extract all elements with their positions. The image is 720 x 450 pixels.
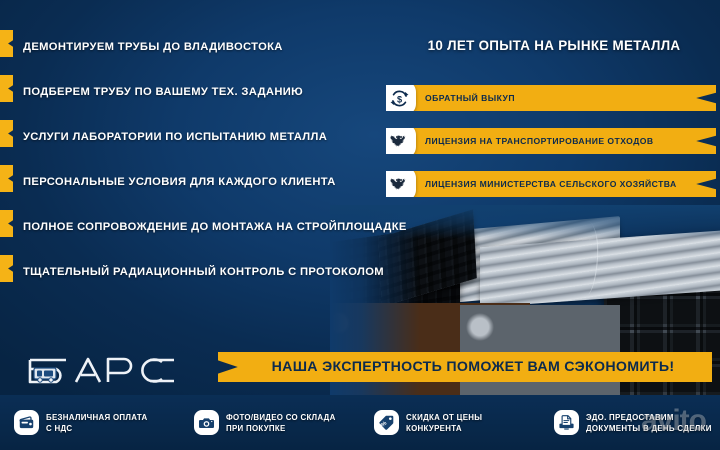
benefit-label: ПОДБЕРЕМ ТРУБУ ПО ВАШЕМУ ТЕХ. ЗАДАНИЮ xyxy=(23,86,303,98)
benefit-item: УСЛУГИ ЛАБОРАТОРИИ ПО ИСПЫТАНИЮ МЕТАЛЛА xyxy=(0,114,420,159)
cta-ribbon[interactable]: НАША ЭКСПЕРТНОСТЬ ПОМОЖЕТ ВАМ СЭКОНОМИТЬ… xyxy=(218,352,712,382)
yellow-tab-marker-icon xyxy=(0,165,13,192)
document-monitor-icon xyxy=(554,410,579,435)
truck-icon xyxy=(34,368,56,382)
benefit-label: ДЕМОНТИРУЕМ ТРУБЫ ДО ВЛАДИВОСТОКА xyxy=(23,41,283,53)
certification-badge-label: ЛИЦЕНЗИЯ МИНИСТЕРСТВА СЕЛЬСКОГО ХОЗЯЙСТВ… xyxy=(425,179,677,189)
feature-label: БЕЗНАЛИЧНАЯ ОПЛАТА С НДС xyxy=(46,412,147,434)
feature-item-competitor-discount: % СКИДКА ОТ ЦЕНЫ КОНКУРЕНТА xyxy=(360,410,540,435)
certification-badge-list: $ ОБРАТНЫЙ ВЫКУП ЛИЦЕНЗИЯ НА ТРАНСПОРТИР… xyxy=(386,85,716,214)
yellow-tab-marker-icon xyxy=(0,75,13,102)
svg-text:$: $ xyxy=(396,94,401,104)
certification-badge-buyback: $ ОБРАТНЫЙ ВЫКУП xyxy=(386,85,716,111)
benefit-item: ПОЛНОЕ СОПРОВОЖДЕНИЕ ДО МОНТАЖА НА СТРОЙ… xyxy=(0,204,420,249)
feature-item-cashless-payment: БЕЗНАЛИЧНАЯ ОПЛАТА С НДС xyxy=(0,410,180,435)
price-tag-icon: % xyxy=(374,410,399,435)
yellow-tab-marker-icon xyxy=(0,30,13,57)
certification-badge-agriculture-license: ЛИЦЕНЗИЯ МИНИСТЕРСТВА СЕЛЬСКОГО ХОЗЯЙСТВ… xyxy=(386,171,716,197)
benefit-item: ДЕМОНТИРУЕМ ТРУБЫ ДО ВЛАДИВОСТОКА xyxy=(0,24,420,69)
feature-strip: БЕЗНАЛИЧНАЯ ОПЛАТА С НДС ФОТО/ВИДЕО СО С… xyxy=(0,395,720,450)
feature-item-edo-documents: ЭДО. ПРЕДОСТАВИМ ДОКУМЕНТЫ В ДЕНЬ СДЕЛКИ xyxy=(540,410,720,435)
company-logo[interactable]: БАРС xyxy=(22,348,192,392)
money-refresh-icon: $ xyxy=(382,81,416,115)
certification-badge-label: ЛИЦЕНЗИЯ НА ТРАНСПОРТИРОВАНИЕ ОТХОДОВ xyxy=(425,136,654,146)
double-eagle-emblem-icon xyxy=(382,124,416,158)
feature-item-photo-video: ФОТО/ВИДЕО СО СКЛАДА ПРИ ПОКУПКЕ xyxy=(180,410,360,435)
benefit-label: ПОЛНОЕ СОПРОВОЖДЕНИЕ ДО МОНТАЖА НА СТРОЙ… xyxy=(23,221,407,233)
benefit-item: ТЩАТЕЛЬНЫЙ РАДИАЦИОННЫЙ КОНТРОЛЬ С ПРОТО… xyxy=(0,249,420,294)
wallet-card-icon xyxy=(14,410,39,435)
double-eagle-emblem-icon xyxy=(382,167,416,201)
yellow-tab-marker-icon xyxy=(0,210,13,237)
benefit-label: ПЕРСОНАЛЬНЫЕ УСЛОВИЯ ДЛЯ КАЖДОГО КЛИЕНТА xyxy=(23,176,336,188)
yellow-tab-marker-icon xyxy=(0,120,13,147)
camera-icon xyxy=(194,410,219,435)
certification-badge-label: ОБРАТНЫЙ ВЫКУП xyxy=(425,93,515,103)
advertisement-banner: ДЕМОНТИРУЕМ ТРУБЫ ДО ВЛАДИВОСТОКА ПОДБЕР… xyxy=(0,0,720,450)
feature-label: ЭДО. ПРЕДОСТАВИМ ДОКУМЕНТЫ В ДЕНЬ СДЕЛКИ xyxy=(586,412,712,434)
headline-experience: 10 ЛЕТ ОПЫТА НА РЫНКЕ МЕТАЛЛА xyxy=(396,38,712,53)
yellow-tab-marker-icon xyxy=(0,255,13,282)
benefit-label: ТЩАТЕЛЬНЫЙ РАДИАЦИОННЫЙ КОНТРОЛЬ С ПРОТО… xyxy=(23,266,384,278)
feature-label: СКИДКА ОТ ЦЕНЫ КОНКУРЕНТА xyxy=(406,412,540,434)
cta-label: НАША ЭКСПЕРТНОСТЬ ПОМОЖЕТ ВАМ СЭКОНОМИТЬ… xyxy=(256,359,675,375)
certification-badge-waste-license: ЛИЦЕНЗИЯ НА ТРАНСПОРТИРОВАНИЕ ОТХОДОВ xyxy=(386,128,716,154)
benefit-item: ПЕРСОНАЛЬНЫЕ УСЛОВИЯ ДЛЯ КАЖДОГО КЛИЕНТА xyxy=(0,159,420,204)
feature-label: ФОТО/ВИДЕО СО СКЛАДА ПРИ ПОКУПКЕ xyxy=(226,412,336,434)
benefit-label: УСЛУГИ ЛАБОРАТОРИИ ПО ИСПЫТАНИЮ МЕТАЛЛА xyxy=(23,131,327,143)
benefits-list: ДЕМОНТИРУЕМ ТРУБЫ ДО ВЛАДИВОСТОКА ПОДБЕР… xyxy=(0,24,420,294)
benefit-item: ПОДБЕРЕМ ТРУБУ ПО ВАШЕМУ ТЕХ. ЗАДАНИЮ xyxy=(0,69,420,114)
